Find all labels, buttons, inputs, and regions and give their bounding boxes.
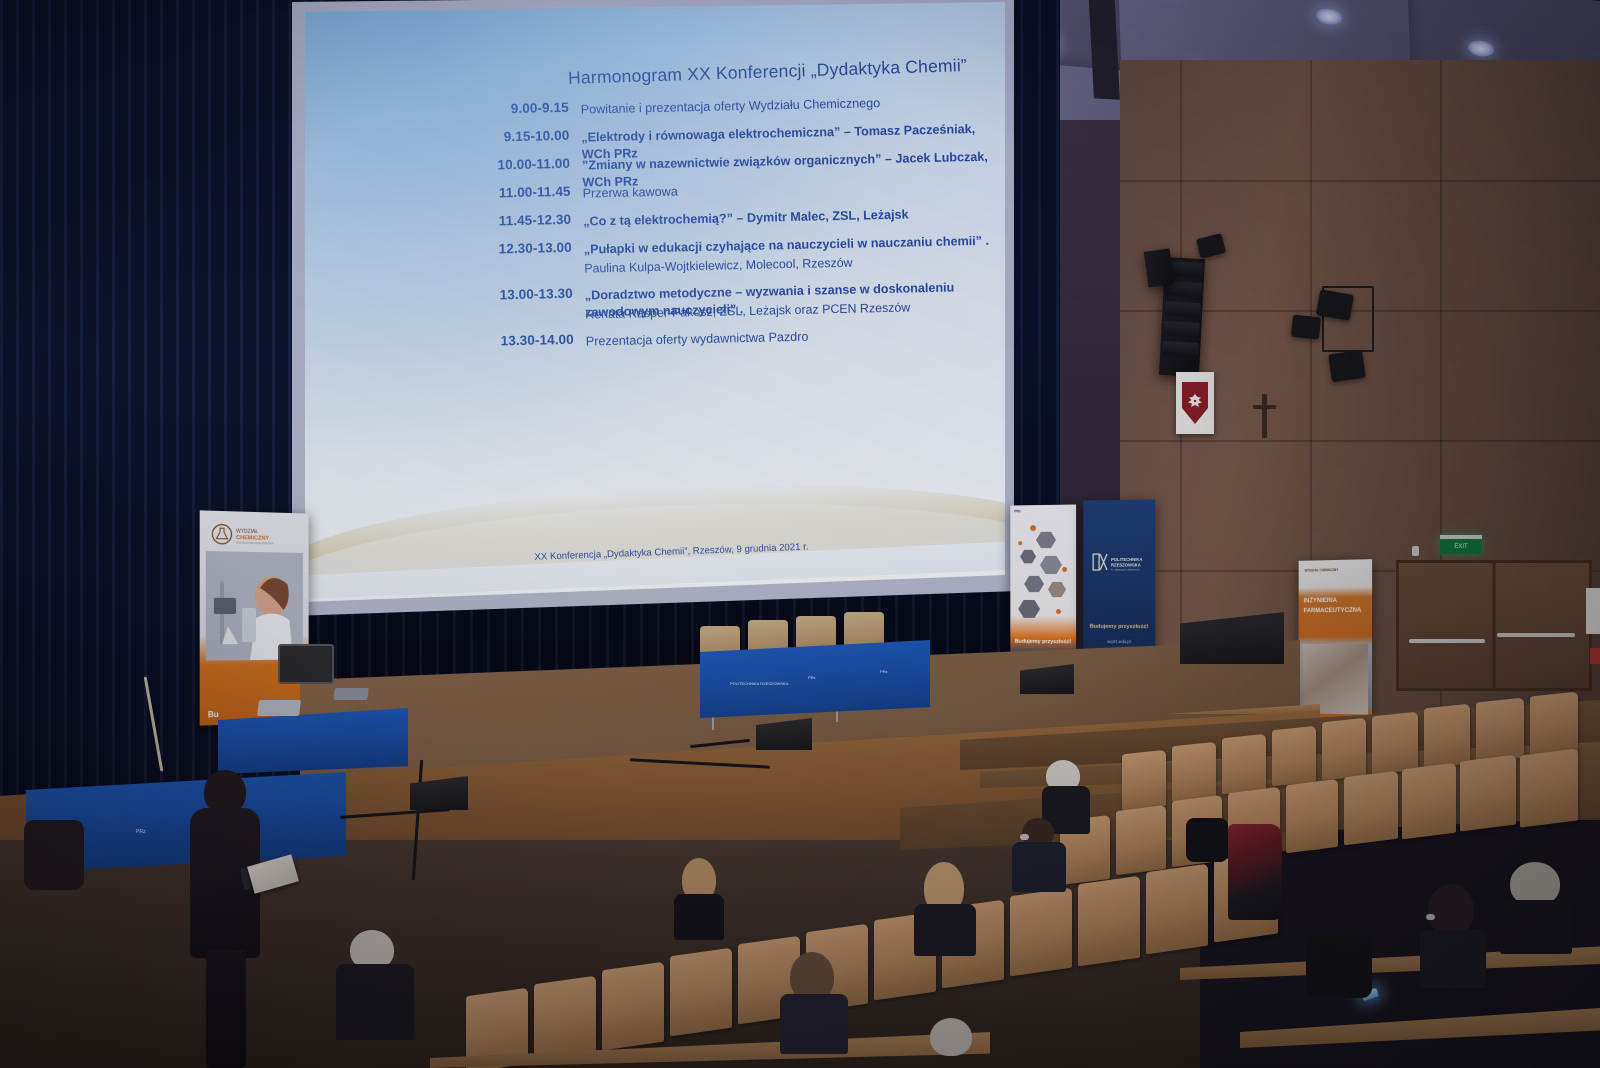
conference-table: POLITECHNIKA RZESZOWSKA PRz PRz bbox=[700, 640, 930, 718]
banner-org-mark: PRz bbox=[1014, 509, 1020, 513]
hexagon-photo bbox=[1018, 599, 1040, 619]
chemistry-flask-logo-icon: WYDZIAŁ CHEMICZNY POLITECHNIKA RZESZOWSK… bbox=[210, 523, 299, 547]
projection-screen: Harmonogram XX Konferencji „Dydaktyka Ch… bbox=[305, 2, 1005, 602]
auditorium-seat[interactable] bbox=[1272, 726, 1316, 787]
face-mask bbox=[1426, 914, 1435, 920]
exit-sign-label: EXIT bbox=[1454, 544, 1467, 550]
accent-dot bbox=[1030, 525, 1036, 531]
banner-subcaption: w.prz.edu.pl bbox=[1083, 639, 1155, 645]
slide-title: Harmonogram XX Konferencji „Dydaktyka Ch… bbox=[568, 55, 967, 89]
speaker-segment bbox=[1162, 341, 1199, 357]
person-body bbox=[674, 894, 724, 940]
seated-person-silhouette bbox=[24, 820, 84, 890]
crucifix bbox=[1262, 394, 1267, 438]
auditorium-scene: Harmonogram XX Konferencji „Dydaktyka Ch… bbox=[0, 0, 1600, 1068]
auditorium-seat[interactable] bbox=[1322, 718, 1366, 781]
audience-desk bbox=[1240, 1008, 1600, 1048]
person-head bbox=[1428, 884, 1474, 936]
banner-politechnika-rzeszowska: POLITECHNIKA RZESZOWSKA im. Ignacego Łuk… bbox=[1083, 500, 1155, 661]
display-monitor[interactable] bbox=[278, 644, 334, 684]
schedule-time: 9.15-10.00 bbox=[477, 128, 569, 145]
schedule-time: 12.30-13.00 bbox=[480, 240, 572, 257]
door-push-bar[interactable] bbox=[1409, 639, 1485, 643]
presenter-legs bbox=[206, 950, 246, 1068]
stage-chair[interactable] bbox=[844, 612, 884, 646]
schedule-description: Prezentacja oferty wydawnictwa Pazdro bbox=[586, 324, 1005, 350]
face-mask bbox=[1020, 834, 1029, 840]
hexagon-photo bbox=[1048, 581, 1066, 598]
banner-wydzial-chemiczny: WYDZIAŁ CHEMICZNY POLITECHNIKA RZESZOWSK… bbox=[200, 510, 309, 725]
auditorium-seat[interactable] bbox=[1010, 888, 1072, 977]
handbag bbox=[1186, 818, 1228, 862]
stage-spotlight bbox=[1291, 315, 1321, 340]
accent-dot bbox=[1062, 567, 1067, 572]
laptop-open[interactable] bbox=[333, 688, 369, 700]
hexagon-photo bbox=[1024, 575, 1044, 593]
accent-dot bbox=[1018, 541, 1022, 545]
wall-seam bbox=[1120, 180, 1600, 182]
eagle-shield-icon bbox=[1182, 382, 1208, 424]
auditorium-seat[interactable] bbox=[1116, 805, 1166, 875]
auditorium-seat[interactable] bbox=[534, 976, 596, 1063]
auditorium-seat[interactable] bbox=[1372, 712, 1418, 775]
speaker-bracket bbox=[1144, 248, 1175, 287]
auditorium-seat[interactable] bbox=[1424, 704, 1470, 769]
fire-equipment-sign bbox=[1590, 648, 1600, 664]
auditorium-seat[interactable] bbox=[1222, 734, 1266, 795]
schedule-time: 13.30-14.00 bbox=[482, 332, 574, 349]
slide-schedule: 9.00-9.15Powitanie i prezentacja oferty … bbox=[477, 91, 1003, 362]
auditorium-seat[interactable] bbox=[1146, 864, 1208, 955]
hexagon-photo bbox=[1020, 549, 1036, 564]
auditorium-seat[interactable] bbox=[1460, 755, 1516, 832]
stage-spotlight bbox=[1328, 350, 1366, 382]
university-logo-icon: POLITECHNIKA RZESZOWSKA im. Ignacego Łuk… bbox=[1091, 552, 1147, 577]
banner-strip-label: Bu bbox=[208, 710, 219, 719]
banner-caption: Budujemy przyszłość! bbox=[1010, 639, 1076, 646]
auditorium-seat[interactable] bbox=[1402, 763, 1456, 840]
svg-text:POLITECHNIKA: POLITECHNIKA bbox=[1111, 557, 1142, 562]
speaker-segment bbox=[1164, 301, 1201, 317]
schedule-description: Powitanie i prezentacja oferty Wydziału … bbox=[581, 92, 1001, 118]
auditorium-seat[interactable] bbox=[670, 948, 732, 1037]
ceiling-downlight bbox=[1468, 39, 1494, 58]
banner-caption: Budujemy przyszłość! bbox=[1083, 624, 1155, 631]
wall-seam bbox=[1120, 440, 1600, 442]
svg-text:im. Ignacego Łukasiewicza: im. Ignacego Łukasiewicza bbox=[1111, 569, 1140, 572]
auditorium-seat[interactable] bbox=[602, 962, 664, 1051]
table-logo: PRz bbox=[136, 830, 145, 836]
auditorium-seat[interactable] bbox=[1476, 697, 1524, 762]
table-logo: POLITECHNIKA RZESZOWSKA bbox=[730, 682, 788, 686]
auditorium-seat[interactable] bbox=[1078, 876, 1140, 967]
exit-door[interactable] bbox=[1396, 560, 1592, 691]
draped-coat bbox=[1228, 824, 1282, 920]
auditorium-seat[interactable] bbox=[1520, 748, 1578, 827]
person-body bbox=[914, 904, 976, 956]
schedule-time: 11.00-11.45 bbox=[478, 184, 570, 201]
table-logo: PRz bbox=[808, 676, 816, 680]
auditorium-seat[interactable] bbox=[1122, 750, 1166, 811]
presenter bbox=[176, 770, 272, 1068]
backpack bbox=[1306, 936, 1372, 998]
exit-sign: EXIT bbox=[1440, 535, 1482, 554]
slide: Harmonogram XX Konferencji „Dydaktyka Ch… bbox=[305, 2, 1005, 602]
schedule-time: 9.00-9.15 bbox=[477, 100, 569, 117]
banner-title-line1: INŻYNIERIA bbox=[1304, 598, 1337, 606]
speaker-segment bbox=[1163, 321, 1200, 337]
person-body bbox=[780, 994, 848, 1054]
accent-dot bbox=[1056, 609, 1061, 614]
schedule-time: 10.00-11.00 bbox=[478, 156, 570, 173]
schedule-description: „Co z tą elektrochemią?” – Dymitr Malec,… bbox=[583, 204, 1003, 230]
svg-text:WYDZIAŁ: WYDZIAŁ bbox=[236, 529, 258, 536]
table-logo: PRz bbox=[880, 670, 888, 674]
door-push-bar[interactable] bbox=[1497, 633, 1575, 637]
banner-org-mark: WYDZIAŁ CHEMICZNY bbox=[1304, 568, 1338, 573]
schedule-time: 13.00-13.30 bbox=[481, 286, 573, 303]
auditorium-seat[interactable] bbox=[1286, 779, 1338, 853]
banner-title-line2: FARMACEUTYCZNA bbox=[1304, 608, 1362, 616]
stage-spotlight bbox=[1316, 289, 1354, 321]
laptop[interactable] bbox=[257, 700, 301, 716]
person-body bbox=[336, 964, 414, 1040]
svg-text:RZESZOWSKA: RZESZOWSKA bbox=[1111, 562, 1141, 567]
person-body bbox=[1420, 930, 1486, 988]
wall-notice bbox=[1586, 588, 1600, 634]
smoke-detector-icon bbox=[1412, 546, 1419, 556]
stage-chair[interactable] bbox=[796, 616, 836, 650]
schedule-time: 11.45-12.30 bbox=[479, 212, 571, 229]
hexagon-photo bbox=[1036, 531, 1056, 549]
svg-text:POLITECHNIKA RZESZOWSKA: POLITECHNIKA RZESZOWSKA bbox=[236, 541, 274, 546]
polish-coat-of-arms bbox=[1176, 372, 1214, 434]
auditorium-seat[interactable] bbox=[1172, 742, 1216, 803]
hexagon-photo bbox=[1040, 555, 1062, 575]
banner-hexagons: PRz Budujemy przyszłość! bbox=[1010, 505, 1076, 664]
person-head bbox=[930, 1018, 972, 1056]
person-body bbox=[1500, 900, 1572, 954]
person-body bbox=[1012, 842, 1066, 892]
banner-photo bbox=[1303, 644, 1369, 715]
auditorium-seat[interactable] bbox=[1344, 771, 1398, 846]
